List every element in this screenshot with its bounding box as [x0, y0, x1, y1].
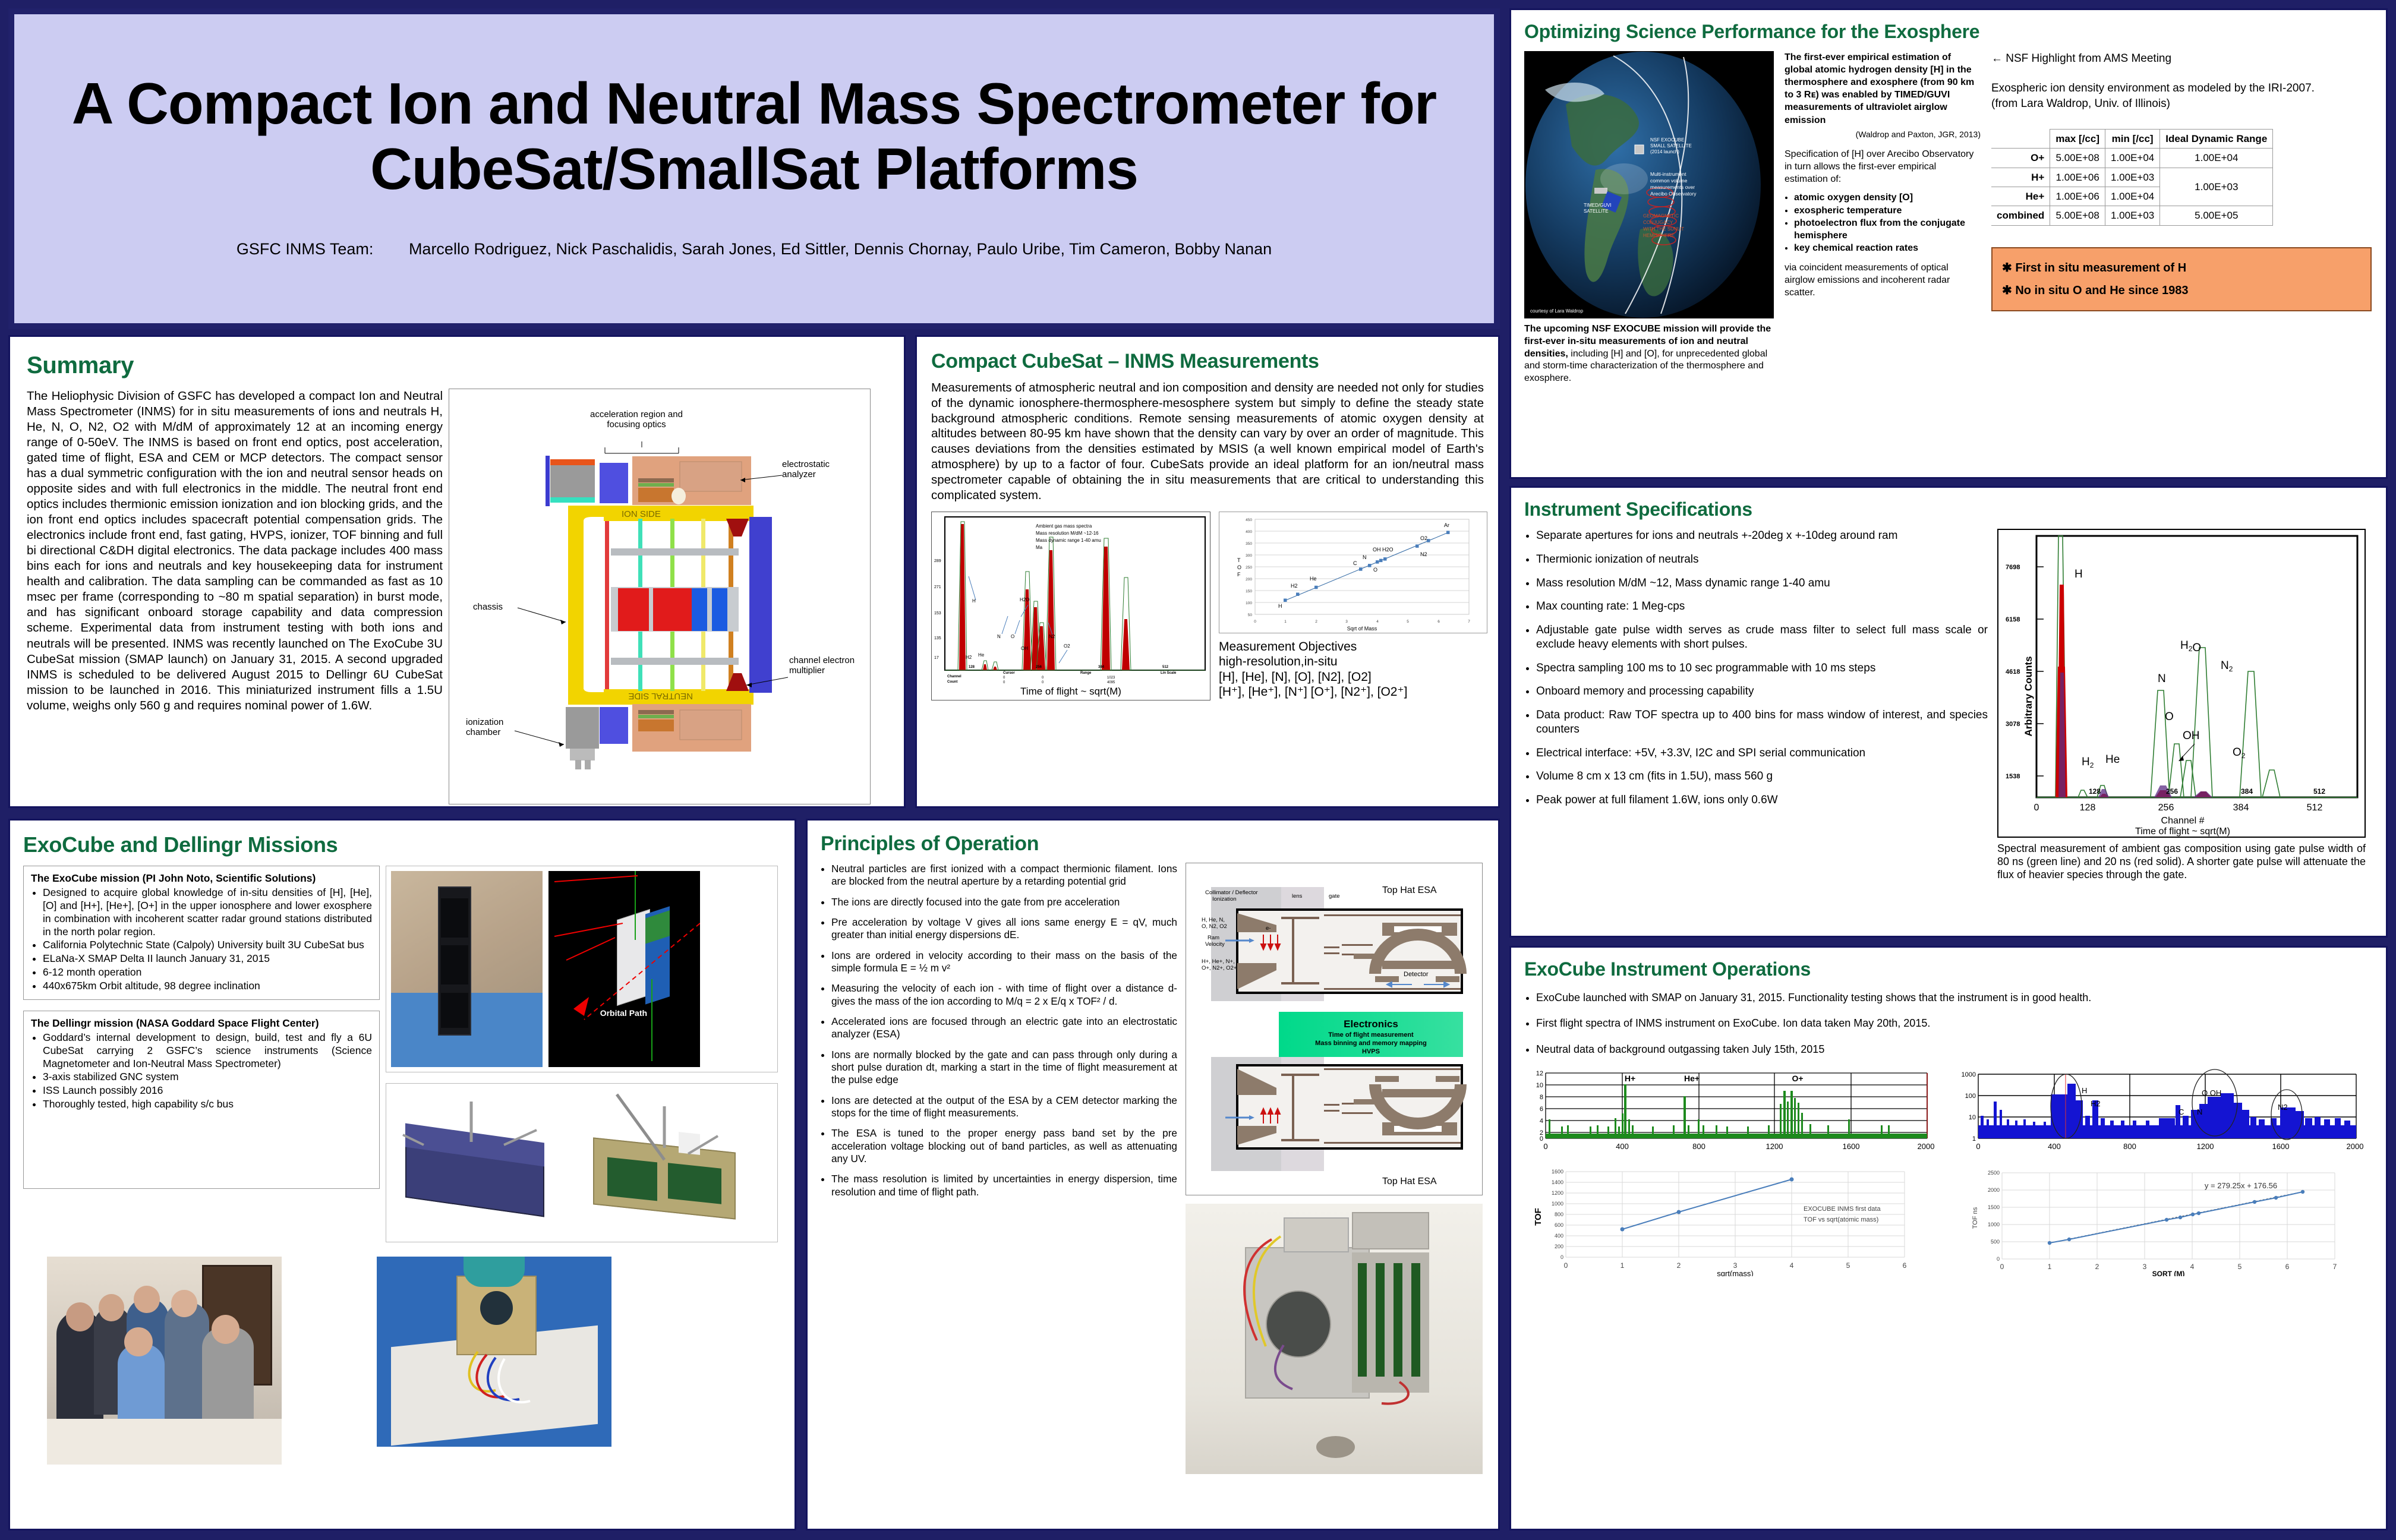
- svg-text:0: 0: [1976, 1142, 1980, 1151]
- missions-panel: ExoCube and Dellingr Missions The ExoCub…: [8, 819, 796, 1530]
- list-item: California Polytechnic State (Calpoly) U…: [43, 939, 372, 952]
- svg-text:He: He: [978, 652, 985, 658]
- svg-text:WITH THE SUNLIT: WITH THE SUNLIT: [1643, 226, 1684, 232]
- fit-equation-annotation: y = 279.25x + 176.56: [2205, 1181, 2277, 1190]
- svg-text:200: 200: [1246, 577, 1252, 582]
- svg-text:128: 128: [969, 665, 975, 669]
- svg-text:Velocity: Velocity: [1205, 941, 1225, 948]
- svg-text:He+: He+: [1684, 1074, 1700, 1083]
- svg-text:6: 6: [2285, 1263, 2290, 1271]
- svg-text:12: 12: [1536, 1070, 1543, 1077]
- svg-text:1000: 1000: [1988, 1222, 2000, 1227]
- objectives-neutrals: [H], [He], [N], [O], [N2], [O2]: [1219, 670, 1487, 685]
- svg-text:6: 6: [1903, 1261, 1907, 1270]
- svg-text:OH: OH: [1021, 646, 1028, 651]
- list-item: Designed to acquire global knowledge of …: [43, 886, 372, 939]
- svg-text:NSF EXOCUBE: NSF EXOCUBE: [1650, 137, 1684, 143]
- table-row: O+ 5.00E+08 1.00E+04 1.00E+04: [1991, 149, 2273, 168]
- svg-text:2000: 2000: [1988, 1187, 2000, 1193]
- svg-text:Channel #: Channel #: [2161, 816, 2205, 826]
- list-item: Electrical interface: +5V, +3.3V, I2C an…: [1536, 746, 1988, 760]
- svg-text:256: 256: [1036, 665, 1042, 669]
- svg-text:1538: 1538: [2006, 773, 2020, 780]
- tof-vs-sqrt-m-fit-chart: 25002000 15001000 5000: [1950, 1163, 2366, 1276]
- svg-text:8: 8: [1540, 1094, 1543, 1101]
- table-header-row: max [/cc] min [/cc] Ideal Dynamic Range: [1991, 129, 2273, 148]
- exocube-heading: The ExoCube mission (PI John Noto, Scien…: [31, 872, 316, 884]
- svg-text:H+: H+: [1625, 1074, 1635, 1083]
- summary-text: The Heliophysic Division of GSFC has dev…: [27, 389, 443, 804]
- svg-text:384: 384: [2241, 787, 2253, 796]
- poster-header: A Compact Ion and Neutral Mass Spectrome…: [8, 8, 1500, 329]
- table-row: H+ 1.00E+06 1.00E+03 1.00E+03: [1991, 168, 2273, 187]
- svg-text:C: C: [1353, 560, 1357, 566]
- svg-text:3: 3: [1345, 620, 1348, 624]
- svg-text:512: 512: [2307, 803, 2323, 813]
- inms-sensor-photo: [1186, 1204, 1483, 1474]
- ambient-gas-mass-spectra-chart: 289 271 153 135 17: [931, 512, 1210, 700]
- list-item: 6-12 month operation: [43, 966, 372, 979]
- svg-text:1500: 1500: [1988, 1204, 2000, 1210]
- svg-text:Lin Scale: Lin Scale: [1161, 671, 1177, 675]
- table-row: combined 5.00E+08 1.00E+03 5.00E+05: [1991, 206, 2273, 225]
- summary-panel: Summary The Heliophysic Division of GSFC…: [8, 335, 906, 808]
- nsf-highlight-note: ← NSF Highlight from AMS Meeting: [1991, 51, 2372, 67]
- svg-text:256: 256: [2158, 803, 2174, 813]
- cell-max: 1.00E+06: [2050, 168, 2105, 187]
- svg-text:400: 400: [2048, 1142, 2061, 1151]
- svg-text:T: T: [1237, 557, 1241, 563]
- svg-text:0: 0: [1254, 620, 1256, 624]
- exocube-photo-row: Orbital Path INMS apertures boom: [386, 866, 778, 1072]
- svg-text:400: 400: [1246, 530, 1252, 534]
- svg-text:Ambient gas mass spectra: Ambient gas mass spectra: [1036, 523, 1092, 529]
- svg-text:Electronics: Electronics: [1344, 1018, 1398, 1030]
- svg-text:N: N: [2158, 673, 2166, 685]
- exosphere-citation: (Waldrop and Paxton, JGR, 2013): [1785, 129, 1981, 140]
- svg-text:600: 600: [1555, 1222, 1563, 1228]
- svg-text:300: 300: [1246, 554, 1252, 558]
- svg-text:4618: 4618: [2006, 668, 2020, 676]
- spectrum-caption: Spectral measurement of ambient gas comp…: [1997, 842, 2366, 882]
- svg-text:He: He: [1310, 576, 1317, 582]
- objectives-title: Measurement Objectives: [1219, 639, 1487, 655]
- svg-text:Mass dynamic range 1-40 amu: Mass dynamic range 1-40 amu: [1036, 538, 1101, 543]
- svg-text:1200: 1200: [1552, 1190, 1563, 1196]
- svg-text:Ionization: Ionization: [1212, 896, 1237, 902]
- svg-text:H2: H2: [1291, 583, 1298, 589]
- svg-text:H: H: [1278, 603, 1282, 609]
- dellingr-render-row: [386, 1083, 778, 1242]
- svg-text:CONJUGACY: CONJUGACY: [1643, 220, 1673, 225]
- col-min: min [/cc]: [2105, 129, 2160, 148]
- cell-max: 5.00E+08: [2050, 206, 2105, 225]
- svg-text:Multi-instrument: Multi-instrument: [1650, 171, 1686, 177]
- instrument-spectrum-chart: 76986158 46183078 1538 Arbitrary Counts: [1997, 529, 2366, 838]
- svg-text:4: 4: [1790, 1261, 1794, 1270]
- cubesat-title: Compact CubeSat – INMS Measurements: [931, 350, 1484, 373]
- svg-text:O, N2, O2: O, N2, O2: [1202, 923, 1227, 930]
- ion-density-table: max [/cc] min [/cc] Ideal Dynamic Range …: [1991, 129, 2273, 226]
- orbital-path-label: Orbital Path: [600, 1008, 647, 1018]
- svg-text:450: 450: [1246, 518, 1252, 522]
- list-item: Goddard’s internal development to design…: [43, 1031, 372, 1071]
- svg-text:Time of flight ~ sqrt(M): Time of flight ~ sqrt(M): [2135, 826, 2230, 837]
- list-item: Peak power at full filament 1.6W, ions o…: [1536, 793, 1988, 807]
- svg-text:1200: 1200: [1766, 1142, 1783, 1151]
- ops-bullets: ExoCube launched with SMAP on January 31…: [1524, 991, 2373, 1056]
- list-item: Thoroughly tested, high capability s/c b…: [43, 1098, 372, 1111]
- svg-text:384: 384: [2233, 803, 2249, 813]
- inms-apertures-label: INMS apertures: [548, 929, 554, 1003]
- svg-text:200: 200: [1555, 1244, 1563, 1249]
- list-item: The ions are directly focused into the g…: [831, 896, 1177, 908]
- svg-text:512: 512: [1162, 665, 1169, 669]
- list-item: atomic oxygen density [O]: [1794, 191, 1981, 204]
- instrument-specifications-panel: Instrument Specifications Separate apert…: [1509, 486, 2388, 938]
- svg-text:7: 7: [2333, 1263, 2337, 1271]
- svg-text:400: 400: [1616, 1142, 1629, 1151]
- principles-bullets: Neutral particles are first ionized with…: [821, 863, 1177, 1474]
- svg-text:17: 17: [934, 656, 939, 660]
- list-item: Ions are ordered in velocity according t…: [831, 949, 1177, 975]
- missions-photo-row-bottom: [23, 1257, 781, 1465]
- svg-text:135: 135: [934, 636, 941, 640]
- svg-text:128: 128: [2089, 787, 2101, 796]
- svg-text:Top Hat ESA: Top Hat ESA: [1382, 885, 1437, 895]
- principles-title: Principles of Operation: [821, 832, 1485, 856]
- iri-model-note-1: Exospheric ion density environment as mo…: [1991, 81, 2372, 96]
- svg-text:1: 1: [1972, 1135, 1976, 1143]
- cell-range: 1.00E+03: [2160, 168, 2273, 206]
- list-item: Spectra sampling 100 ms to 10 sec progra…: [1536, 661, 1988, 676]
- svg-text:O+, N2+, O2+: O+, N2+, O2+: [1202, 965, 1237, 971]
- exocube-tof-first-data-chart: 16001400 12001000 800600 400200 0 012: [1524, 1163, 1940, 1276]
- iri-model-note-2: (from Lara Waldrop, Univ. of Illinois): [1991, 96, 2372, 112]
- principles-panel: Principles of Operation Neutral particle…: [806, 819, 1500, 1530]
- svg-text:350: 350: [1246, 542, 1252, 546]
- svg-text:H: H: [2075, 568, 2083, 580]
- label-chassis: chassis: [473, 602, 503, 612]
- svg-text:0: 0: [2000, 1263, 2004, 1271]
- svg-text:N2: N2: [2278, 1103, 2288, 1112]
- list-item: Adjustable gate pulse width serves as cr…: [1536, 623, 1988, 652]
- dellingr-mission-box: The Dellingr mission (NASA Goddard Space…: [23, 1011, 380, 1189]
- svg-text:Range: Range: [1080, 671, 1092, 675]
- svg-text:7698: 7698: [2006, 564, 2020, 571]
- svg-text:Mass binning and memory mappin: Mass binning and memory mapping: [1315, 1040, 1427, 1047]
- svg-text:2000: 2000: [1918, 1142, 1935, 1151]
- svg-text:Channel: Channel: [947, 675, 961, 679]
- svg-text:SATELLITE: SATELLITE: [1584, 209, 1609, 214]
- svg-text:OH: OH: [2183, 730, 2200, 742]
- svg-text:He: He: [2105, 753, 2120, 766]
- svg-text:H, He, N,: H, He, N,: [1202, 917, 1225, 923]
- svg-text:O+: O+: [1792, 1074, 1803, 1083]
- svg-text:gate: gate: [1329, 893, 1340, 900]
- label-ionization-chamber: ionization chamber: [466, 717, 519, 738]
- svg-text:sqrt(mass): sqrt(mass): [1717, 1269, 1753, 1276]
- svg-text:TOF ns: TOF ns: [1972, 1207, 1979, 1229]
- highlight-item: ✱ No in situ O and He since 1983: [2002, 279, 2361, 302]
- boom-label: boom: [548, 881, 557, 908]
- svg-text:common volume: common volume: [1650, 178, 1688, 184]
- author-list: GSFC INMS Team: Marcello Rodriguez, Nick…: [237, 240, 1272, 258]
- svg-text:Ram: Ram: [1208, 935, 1219, 941]
- list-item: First flight spectra of INMS instrument …: [1536, 1017, 2373, 1030]
- svg-text:0: 0: [1560, 1254, 1563, 1260]
- list-item: key chemical reaction rates: [1794, 242, 1981, 254]
- svg-text:6: 6: [1540, 1106, 1543, 1113]
- svg-text:Arecibo Observatory: Arecibo Observatory: [1650, 191, 1697, 197]
- inms-instrument-handling-photo: [377, 1257, 611, 1447]
- list-item: Neutral particles are first ionized with…: [831, 863, 1177, 888]
- exocube-flight-unit-photo: [391, 871, 543, 1067]
- svg-text:0: 0: [2034, 803, 2039, 813]
- list-item: Mass resolution M/dM ~12, Mass dynamic r…: [1536, 576, 1988, 591]
- cell-species: He+: [1991, 187, 2050, 206]
- svg-text:O OH: O OH: [2202, 1088, 2221, 1097]
- svg-text:N: N: [1363, 554, 1367, 560]
- col-max: max [/cc]: [2050, 129, 2105, 148]
- svg-text:1600: 1600: [1843, 1142, 1860, 1151]
- svg-text:0: 0: [1543, 1142, 1547, 1151]
- svg-text:GEOMAGNETIC: GEOMAGNETIC: [1643, 213, 1679, 219]
- ops-title: ExoCube Instrument Operations: [1524, 958, 2373, 980]
- svg-text:2: 2: [1677, 1261, 1681, 1270]
- list-item: Onboard memory and processing capability: [1536, 684, 1988, 699]
- exosphere-title: Optimizing Science Performance for the E…: [1524, 21, 2373, 43]
- dellingr-exterior-render: [391, 1088, 569, 1237]
- earth-orbit-image: NSF EXOCUBE SMALL SATELLITE (2014 launch…: [1524, 51, 1774, 318]
- svg-text:Mass resolution M/dM ~12-16: Mass resolution M/dM ~12-16: [1036, 531, 1099, 536]
- svg-text:Collimator / Deflector: Collimator / Deflector: [1205, 889, 1258, 896]
- cell-min: 1.00E+03: [2105, 206, 2160, 225]
- svg-text:O: O: [1373, 567, 1377, 573]
- col-range: Ideal Dynamic Range: [2160, 129, 2273, 148]
- cubesat-text: Measurements of atmospheric neutral and …: [931, 380, 1484, 503]
- list-item: Ions are normally blocked by the gate an…: [831, 1049, 1177, 1087]
- svg-text:400: 400: [1555, 1233, 1563, 1239]
- exocube-neutral-spectrum-chart: HH2 CN O OHN2 1000100 101 0400 8001200 1…: [1950, 1068, 2366, 1151]
- list-item: Pre acceleration by voltage V gives all …: [831, 916, 1177, 942]
- svg-text:N2: N2: [1420, 551, 1427, 557]
- list-item: exospheric temperature: [1794, 204, 1981, 217]
- svg-text:150: 150: [1246, 589, 1252, 594]
- svg-text:7: 7: [1468, 620, 1470, 624]
- svg-text:2000: 2000: [2347, 1142, 2364, 1151]
- svg-text:ION SIDE: ION SIDE: [622, 509, 661, 519]
- svg-text:800: 800: [1555, 1211, 1563, 1217]
- svg-text:1200: 1200: [2197, 1142, 2214, 1151]
- exosphere-image-caption: The upcoming NSF EXOCUBE mission will pr…: [1524, 323, 1774, 385]
- svg-text:Ma: Ma: [1036, 545, 1043, 550]
- svg-text:Detector: Detector: [1404, 971, 1429, 978]
- svg-text:250: 250: [1246, 566, 1252, 570]
- svg-text:2: 2: [2095, 1263, 2099, 1271]
- poster-root: A Compact Ion and Neutral Mass Spectrome…: [0, 0, 2396, 1540]
- svg-text:Sqrt of Mass: Sqrt of Mass: [1347, 626, 1377, 632]
- svg-text:4: 4: [1540, 1118, 1543, 1125]
- compact-cubesat-panel: Compact CubeSat – INMS Measurements Meas…: [915, 335, 1500, 808]
- svg-text:289: 289: [934, 559, 941, 563]
- list-item: ELaNa-X SMAP Delta II launch January 31,…: [43, 952, 372, 965]
- exocube-operations-panel: ExoCube Instrument Operations ExoCube la…: [1509, 946, 2388, 1530]
- exosphere-mid-tail: via coincident measurements of optical a…: [1785, 261, 1981, 299]
- missions-title: ExoCube and Dellingr Missions: [23, 832, 781, 857]
- svg-text:2: 2: [1315, 620, 1317, 624]
- list-item: Thermionic ionization of neutrals: [1536, 553, 1988, 567]
- svg-text:800: 800: [1692, 1142, 1705, 1151]
- list-item: Ions are detected at the output of the E…: [831, 1094, 1177, 1120]
- svg-text:6158: 6158: [2006, 616, 2020, 623]
- title-line-1: A Compact Ion and Neutral Mass Spectrome…: [72, 71, 1436, 136]
- cell-max: 5.00E+08: [2050, 149, 2105, 168]
- svg-text:Ar: Ar: [1444, 522, 1449, 528]
- svg-text:800: 800: [2123, 1142, 2136, 1151]
- svg-text:1600: 1600: [2272, 1142, 2290, 1151]
- exocube-bullets: Designed to acquire global knowledge of …: [43, 886, 372, 993]
- svg-text:HEMISPHERE: HEMISPHERE: [1643, 233, 1675, 238]
- svg-text:100: 100: [1965, 1093, 1976, 1100]
- svg-text:O2: O2: [1064, 643, 1070, 649]
- svg-text:measurements over: measurements over: [1650, 184, 1695, 190]
- list-item: Measuring the velocity of each ion - wit…: [831, 982, 1177, 1008]
- tof-vs-sqrt-mass-chart: 450400 350300 250200 150100 50 01 23 45 …: [1219, 512, 1487, 633]
- svg-text:128: 128: [2080, 803, 2096, 813]
- measurement-objectives: Measurement Objectives high-resolution,i…: [1219, 639, 1487, 700]
- svg-text:Count: Count: [947, 680, 957, 684]
- list-item: Neutral data of background outgassing ta…: [1536, 1043, 2373, 1056]
- cell-species: H+: [1991, 168, 2050, 187]
- cell-range: 1.00E+04: [2160, 149, 2273, 168]
- svg-text:Top Hat ESA: Top Hat ESA: [1382, 1176, 1437, 1186]
- svg-text:TOF: TOF: [1533, 1208, 1543, 1226]
- svg-text:512: 512: [2313, 787, 2325, 796]
- svg-text:1: 1: [2048, 1263, 2052, 1271]
- list-item: 3-axis stabilized GNC system: [43, 1071, 372, 1084]
- svg-text:NEUTRAL SIDE: NEUTRAL SIDE: [628, 691, 693, 701]
- dellingr-bullets: Goddard’s internal development to design…: [43, 1031, 372, 1111]
- objectives-ions: [H⁺], [He⁺], [N⁺] [O⁺], [N2⁺], [O2⁺]: [1219, 684, 1487, 700]
- svg-text:1000: 1000: [1552, 1201, 1563, 1207]
- exocube-orbit-render: Orbital Path INMS apertures boom: [548, 871, 700, 1067]
- svg-text:H+, He+, N+,: H+, He+, N+,: [1202, 958, 1235, 965]
- svg-text:5: 5: [1846, 1261, 1850, 1270]
- top-hat-esa-diagram: Collimator / Deflector Ionization lens g…: [1186, 863, 1483, 1195]
- cell-min: 1.00E+03: [2105, 168, 2160, 187]
- svg-text:Time of flight measurement: Time of flight measurement: [1328, 1031, 1414, 1039]
- svg-text:SMALL SATELLITE: SMALL SATELLITE: [1650, 143, 1692, 149]
- team-names: Marcello Rodriguez, Nick Paschalidis, Sa…: [409, 240, 1272, 258]
- svg-text:1400: 1400: [1552, 1179, 1563, 1185]
- list-item: 440x675km Orbit altitude, 98 degree incl…: [43, 980, 372, 993]
- svg-text:N: N: [997, 634, 1001, 639]
- objectives-sub: high-resolution,in-situ: [1219, 654, 1487, 670]
- specs-title: Instrument Specifications: [1524, 498, 2373, 520]
- cell-max: 1.00E+06: [2050, 187, 2105, 206]
- team-label: GSFC INMS Team:: [237, 240, 374, 258]
- svg-text:TIMED/GUVI: TIMED/GUVI: [1584, 203, 1612, 208]
- col-species: [1991, 129, 2050, 148]
- svg-text:EXOCUBE INMS first data: EXOCUBE INMS first data: [1804, 1206, 1881, 1213]
- svg-text:4095: 4095: [1107, 681, 1115, 684]
- cell-min: 1.00E+04: [2105, 187, 2160, 206]
- svg-text:Arbitrary Counts: Arbitrary Counts: [2023, 656, 2034, 736]
- mass-spectra-xlabel: Time of flight ~ sqrt(M): [932, 686, 1210, 698]
- svg-text:H2: H2: [966, 655, 972, 660]
- highlight-item: ✱ First in situ measurement of H: [2002, 257, 2361, 279]
- svg-text:4: 4: [1376, 620, 1379, 624]
- exosphere-mid-bullets: atomic oxygen density [O] exospheric tem…: [1794, 191, 1981, 254]
- svg-text:0: 0: [1997, 1256, 2000, 1262]
- summary-title: Summary: [27, 352, 887, 379]
- svg-text:N: N: [2197, 1107, 2202, 1116]
- svg-text:10: 10: [1536, 1082, 1543, 1089]
- svg-text:TOF vs sqrt(atomic mass): TOF vs sqrt(atomic mass): [1804, 1216, 1878, 1223]
- svg-text:1: 1: [1621, 1261, 1625, 1270]
- svg-text:0: 0: [1564, 1261, 1568, 1270]
- cell-range: 5.00E+05: [2160, 206, 2273, 225]
- svg-text:HVPS: HVPS: [1362, 1048, 1380, 1055]
- dellingr-heading: The Dellingr mission (NASA Goddard Space…: [31, 1017, 319, 1029]
- svg-text:e-: e-: [1266, 925, 1270, 932]
- label-channel-electron-multiplier: channel electron multiplier: [789, 655, 860, 676]
- svg-text:H2O: H2O: [1020, 597, 1029, 602]
- svg-text:153: 153: [934, 611, 941, 616]
- dellingr-interior-render: [575, 1088, 754, 1237]
- svg-text:lens: lens: [1292, 893, 1303, 900]
- svg-text:3: 3: [2143, 1263, 2147, 1271]
- title-line-2: CubeSat/SmallSat Platforms: [370, 136, 1138, 201]
- svg-text:N2: N2: [1049, 634, 1055, 639]
- list-item: photoelectron flux from the conjugate he…: [1794, 217, 1981, 242]
- svg-text:5: 5: [2238, 1263, 2242, 1271]
- cell-species: combined: [1991, 206, 2050, 225]
- list-item: The mass resolution is limited by uncert…: [831, 1173, 1177, 1198]
- svg-text:1023: 1023: [1107, 676, 1115, 680]
- svg-text:1000: 1000: [1962, 1071, 1976, 1078]
- highlight-callout-box: ✱ First in situ measurement of H ✱ No in…: [1991, 247, 2372, 311]
- instrument-schematic-svg: ION SIDE: [449, 389, 871, 804]
- list-item: ISS Launch possibly 2016: [43, 1084, 372, 1097]
- svg-text:500: 500: [1991, 1239, 2000, 1245]
- svg-text:F: F: [1237, 572, 1241, 577]
- svg-text:256: 256: [2166, 787, 2178, 796]
- svg-text:H: H: [2082, 1086, 2087, 1095]
- exosphere-panel: Optimizing Science Performance for the E…: [1509, 8, 2388, 479]
- svg-text:5: 5: [1407, 620, 1409, 624]
- earth-image-courtesy: courtesy of Lara Waldrop: [1530, 308, 1584, 314]
- svg-text:271: 271: [934, 585, 941, 589]
- page-title: A Compact Ion and Neutral Mass Spectrome…: [72, 71, 1436, 202]
- svg-text:0: 0: [1540, 1135, 1543, 1143]
- list-item: The ESA is tuned to the proper energy pa…: [831, 1127, 1177, 1165]
- instrument-schematic-diagram: ION SIDE: [449, 389, 871, 804]
- svg-text:4: 4: [2190, 1263, 2195, 1271]
- svg-text:SQRT (M): SQRT (M): [2152, 1270, 2185, 1276]
- cell-species: O+: [1991, 149, 2050, 168]
- label-electrostatic-analyzer: electrostatic analyzer: [782, 459, 865, 480]
- svg-text:(2014 launch): (2014 launch): [1650, 149, 1679, 154]
- cell-min: 1.00E+04: [2105, 149, 2160, 168]
- svg-text:O2: O2: [1420, 535, 1427, 541]
- svg-text:50: 50: [1248, 613, 1253, 617]
- svg-text:O: O: [1237, 564, 1241, 570]
- label-acceleration-region: acceleration region and focusing optics: [577, 409, 696, 430]
- svg-text:2500: 2500: [1988, 1170, 2000, 1176]
- svg-text:10: 10: [1969, 1114, 1976, 1121]
